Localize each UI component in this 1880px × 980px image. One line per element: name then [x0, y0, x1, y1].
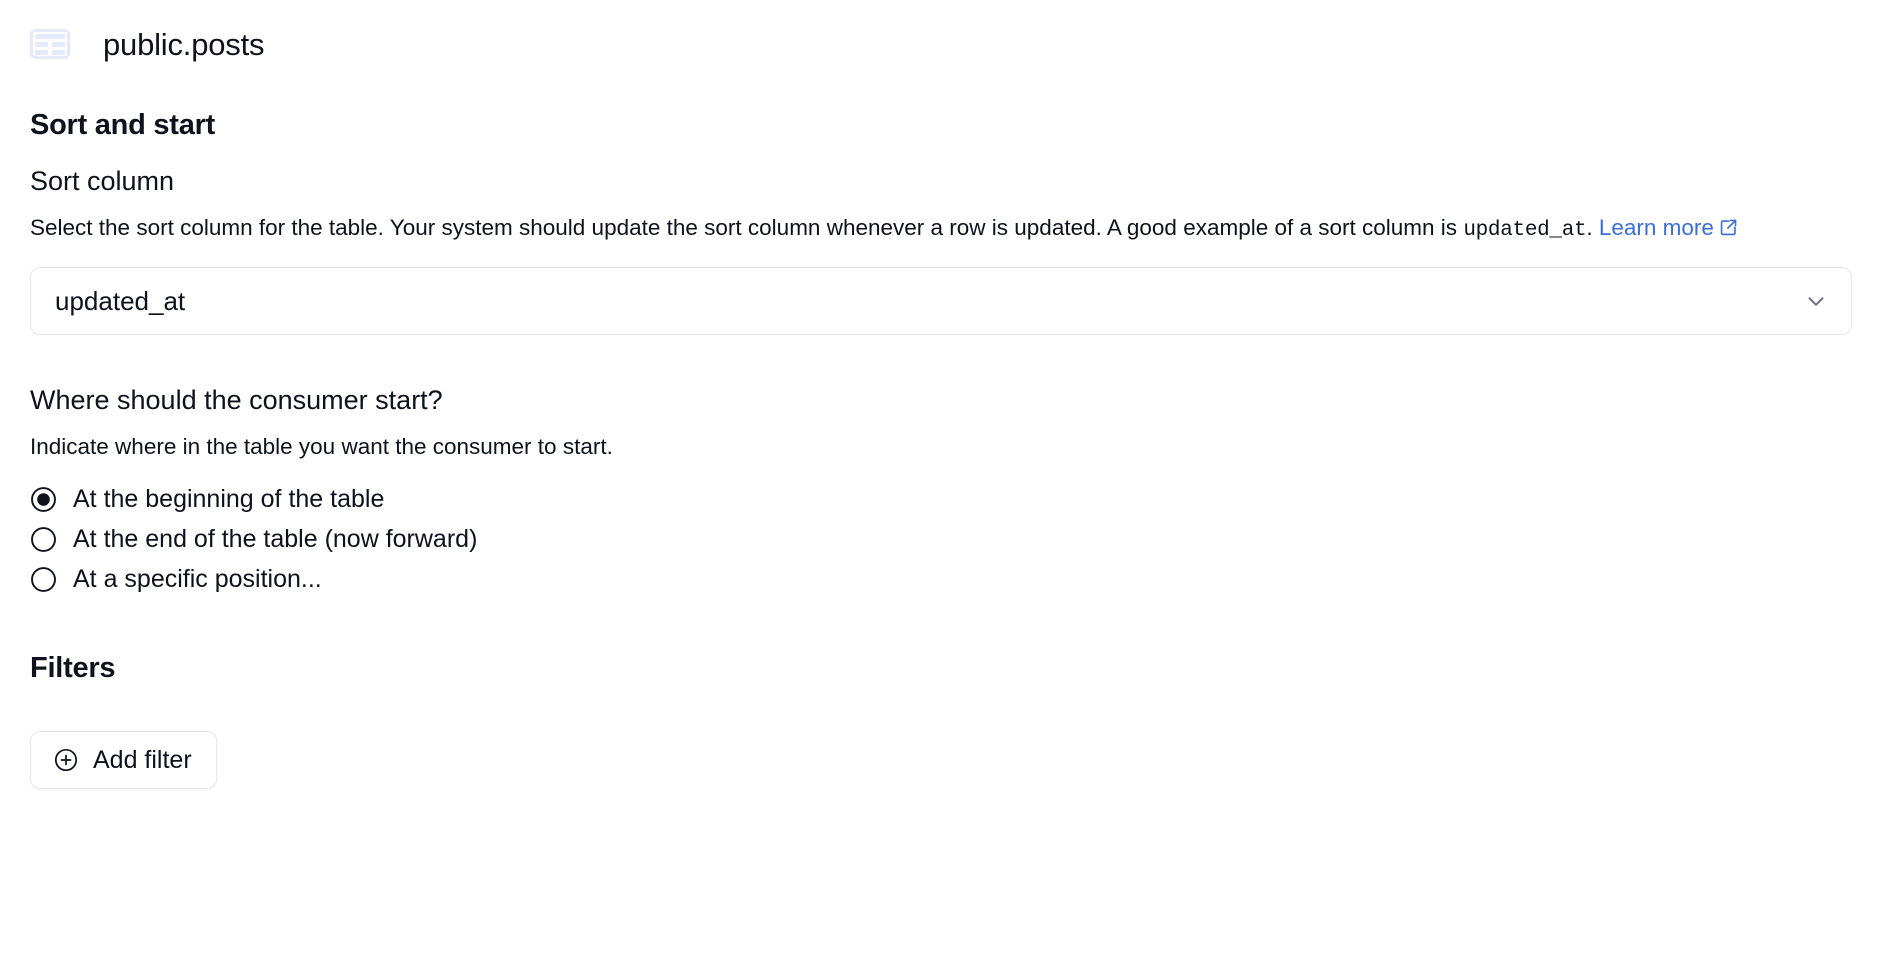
help-text-code: updated_at: [1463, 219, 1586, 242]
consumer-start-radio-group: At the beginning of the table At the end…: [30, 480, 1850, 600]
add-filter-button[interactable]: Add filter: [30, 731, 217, 789]
learn-more-link[interactable]: Learn more: [1599, 215, 1738, 240]
radio-label-beginning-of-table: At the beginning of the table: [73, 487, 384, 512]
sort-and-start-page: public.posts Sort and start Sort column …: [0, 0, 1880, 789]
radio-option-end-of-table[interactable]: At the end of the table (now forward): [30, 520, 1850, 560]
consumer-start-help-text: Indicate where in the table you want the…: [30, 430, 1850, 464]
radio-unselected-icon[interactable]: [30, 526, 57, 553]
radio-label-specific-position: At a specific position...: [73, 567, 322, 592]
external-link-icon: [1719, 213, 1738, 247]
sort-column-help-text: Select the sort column for the table. Yo…: [30, 211, 1850, 247]
radio-option-specific-position[interactable]: At a specific position...: [30, 560, 1850, 600]
section-title-filters: Filters: [30, 652, 1850, 685]
radio-selected-icon[interactable]: [30, 486, 57, 513]
consumer-start-block: Where should the consumer start? Indicat…: [30, 385, 1850, 600]
radio-unselected-icon[interactable]: [30, 566, 57, 593]
add-filter-label: Add filter: [93, 748, 192, 773]
chevron-down-icon: [1803, 288, 1829, 314]
table-header: public.posts: [30, 18, 1850, 70]
radio-option-beginning-of-table[interactable]: At the beginning of the table: [30, 480, 1850, 520]
help-text-part1: Select the sort column for the table. Yo…: [30, 215, 1463, 240]
consumer-start-question: Where should the consumer start?: [30, 385, 1850, 416]
table-grid-icon: [30, 28, 70, 60]
plus-circle-icon: [53, 747, 79, 773]
sort-column-select[interactable]: updated_at: [30, 267, 1852, 335]
learn-more-label: Learn more: [1599, 215, 1714, 240]
sort-column-select-value: updated_at: [55, 288, 185, 314]
radio-label-end-of-table: At the end of the table (now forward): [73, 527, 477, 552]
help-text-part2: .: [1586, 215, 1599, 240]
section-title-sort-and-start: Sort and start: [30, 109, 1850, 142]
page-title: public.posts: [103, 29, 264, 60]
sort-column-label: Sort column: [30, 166, 1850, 197]
